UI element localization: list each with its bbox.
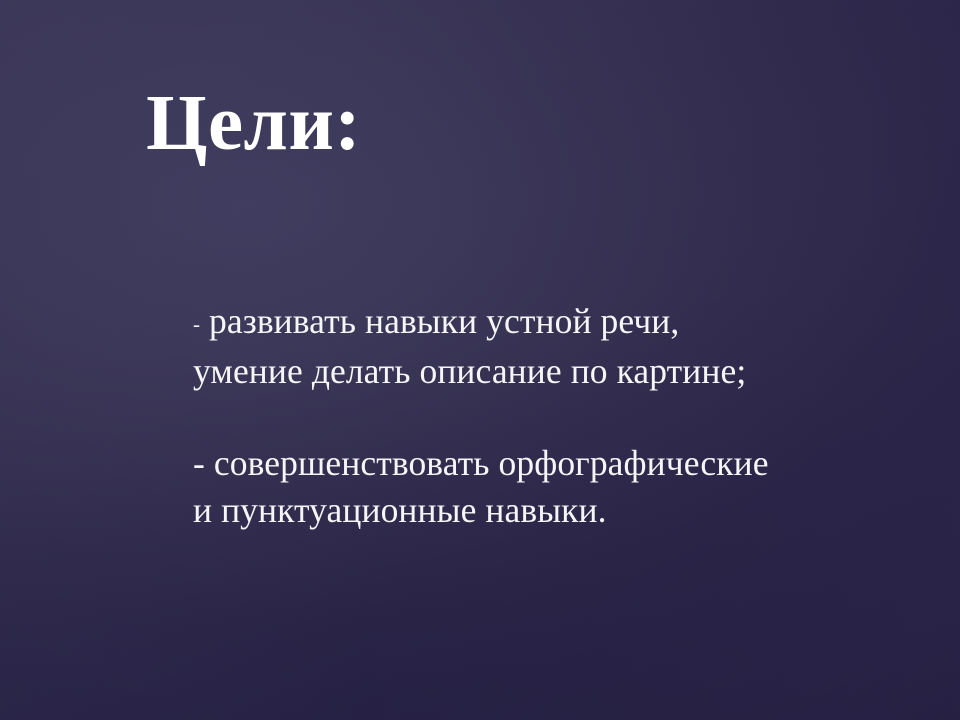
slide-content: Цели: - развивать навыки устной речи, ум… <box>0 0 960 720</box>
slide-body: - развивать навыки устной речи, умение д… <box>193 298 893 534</box>
bullet-marker-1: - <box>193 312 200 336</box>
bullet-text-2: совершенствовать орфографические и пункт… <box>193 443 769 530</box>
bullet-text-1: развивать навыки устной речи, умение дел… <box>193 301 746 391</box>
bullet-item-1: - развивать навыки устной речи, умение д… <box>193 298 893 395</box>
slide-title: Цели: <box>146 84 361 163</box>
bullet-marker-2: - <box>193 443 205 483</box>
presentation-slide: Цели: - развивать навыки устной речи, ум… <box>0 0 960 720</box>
bullet-item-2: - совершенствовать орфографические и пун… <box>193 440 893 534</box>
